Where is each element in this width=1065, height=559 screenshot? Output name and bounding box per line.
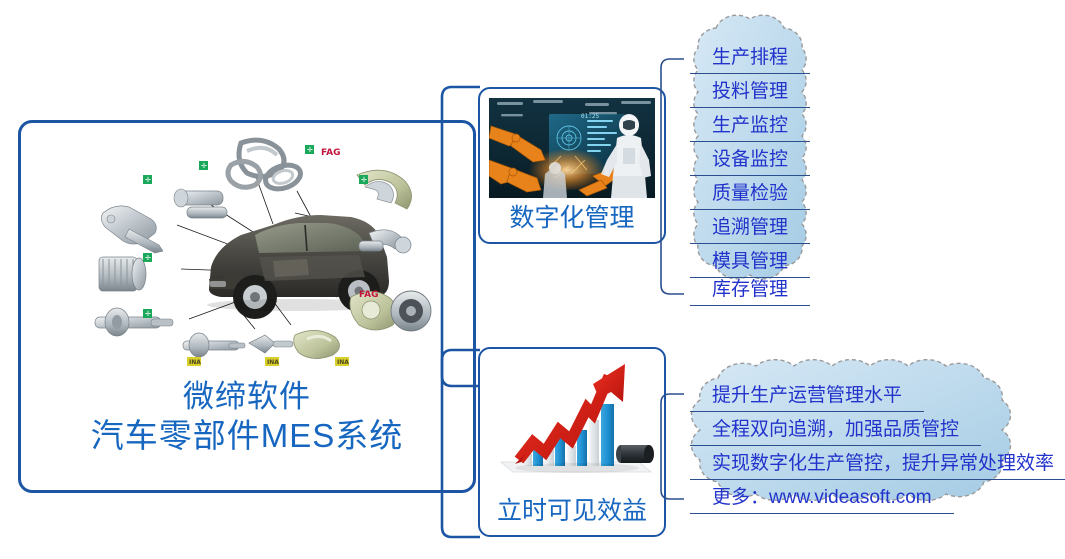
card-visible-benefit[interactable]: 立时可见效益 [478,347,666,537]
growth-chart-svg [489,358,655,480]
card-digital-management[interactable]: 01:25 [478,87,666,244]
parts-illustration-svg: ✛✛ ✛✛ ✛✛ FAG FAG INAINAINA [59,129,441,379]
svg-text:✛: ✛ [307,146,313,154]
smart-factory-robot-photo: 01:25 [489,98,655,198]
svg-text:✛: ✛ [145,176,151,184]
modules-list: 生产排程 投料管理 生产监控 设备监控 质量检验 追溯管理 模具管理 库存管理 [672,6,828,312]
svg-text:INA: INA [267,359,279,366]
list-item-benefit-2[interactable]: 全程双向追溯，加强品质管控 [712,414,959,441]
card-digital-label: 数字化管理 [480,198,664,234]
list-item-module-1[interactable]: 生产排程 [672,42,828,69]
svg-text:01:25: 01:25 [581,113,599,120]
list-item-benefit-3[interactable]: 实现数字化生产管控，提升异常处理效率 [712,448,1054,475]
list-item-module-2[interactable]: 投料管理 [672,76,828,103]
list-item-module-3[interactable]: 生产监控 [672,110,828,137]
title-line-1: 微缔软件 [21,378,473,416]
benefits-list: 提升生产运营管理水平 全程双向追溯，加强品质管控 实现数字化生产管控，提升异常处… [672,352,1052,530]
svg-text:FAG: FAG [321,148,340,158]
list-item-benefit-1[interactable]: 提升生产运营管理水平 [712,380,902,407]
svg-text:INA: INA [337,359,349,366]
svg-text:✛: ✛ [201,162,207,170]
card-benefit-label: 立时可见效益 [480,491,664,527]
benefits-cloud: 提升生产运营管理水平 全程双向追溯，加强品质管控 实现数字化生产管控，提升异常处… [672,352,1052,530]
svg-text:✛: ✛ [145,254,151,262]
growth-bar-chart-arrow-photo [489,358,655,480]
svg-text:INA: INA [189,359,201,366]
page-title: 微缔软件 汽车零部件MES系统 [21,378,473,456]
main-product-panel: ✛✛ ✛✛ ✛✛ FAG FAG INAINAINA 微缔软 [18,120,476,493]
list-item-benefit-4[interactable]: 更多：www.videasoft.com [712,482,932,509]
title-line-2: 汽车零部件MES系统 [21,416,473,456]
svg-text:✛: ✛ [145,310,151,318]
svg-text:✛: ✛ [361,176,367,184]
list-item-module-6[interactable]: 追溯管理 [672,212,828,239]
list-item-module-5[interactable]: 质量检验 [672,178,828,205]
list-item-module-4[interactable]: 设备监控 [672,144,828,171]
list-item-module-8[interactable]: 库存管理 [672,274,828,301]
diagram-canvas: ✛✛ ✛✛ ✛✛ FAG FAG INAINAINA 微缔软 [0,0,1065,559]
factory-photo-svg: 01:25 [489,98,655,198]
modules-cloud: 生产排程 投料管理 生产监控 设备监控 质量检验 追溯管理 模具管理 库存管理 [672,6,828,312]
list-item-module-7[interactable]: 模具管理 [672,246,828,273]
automotive-parts-exploded-diagram: ✛✛ ✛✛ ✛✛ FAG FAG INAINAINA [59,129,441,379]
svg-text:FAG: FAG [359,290,378,300]
